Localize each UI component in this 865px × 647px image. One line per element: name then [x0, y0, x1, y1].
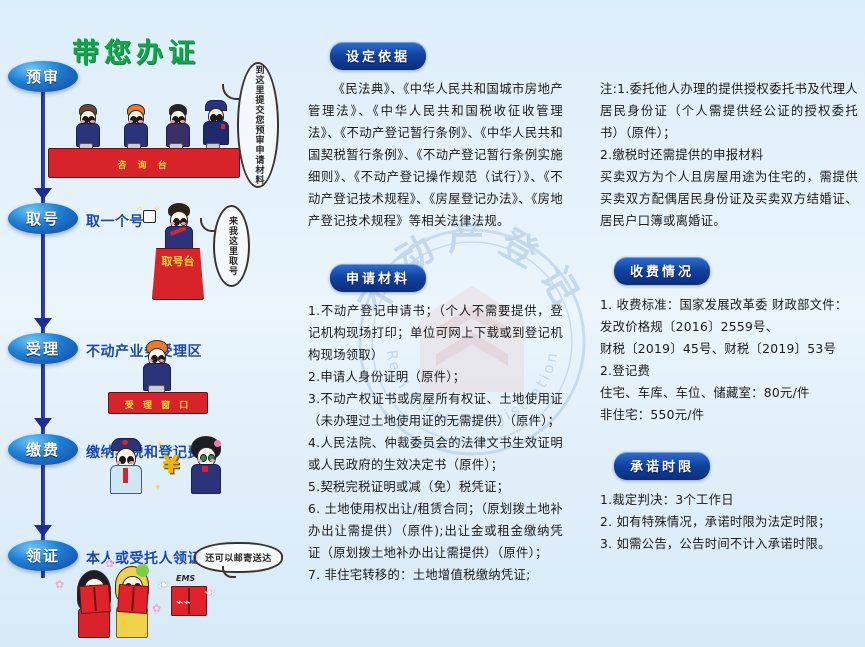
fees-line: 2.登记费: [600, 360, 858, 382]
number-bubble-tail: [200, 218, 216, 232]
payment-officer: [110, 438, 140, 494]
poster-canvas: 不动产登记 Real Estate Registration 带您办证 预审: [0, 0, 865, 647]
preexam-bubble-tail: [222, 84, 240, 100]
fees-line: 住宅、车库、车位、储藏室：80元/件: [600, 382, 858, 404]
clerk-2: [124, 104, 146, 148]
ems-bubble-text: 还可以邮寄送达: [205, 551, 272, 564]
flow-step-preexam-label: 预审: [26, 66, 60, 87]
deadline-line: 1.裁定判决：3个工作日: [600, 489, 858, 511]
flow-step-accept-label: 受理: [26, 338, 60, 359]
ems-envelope: ⌁⌁: [171, 586, 207, 616]
clerk-1: [76, 104, 98, 148]
consult-desk: 咨 询 台: [48, 148, 240, 178]
section-fees-list: 1. 收费标准：国家发展改革委 财政部文件： 发改价格规〔2016〕2559号、…: [600, 294, 858, 426]
accept-desk-label: 受 理 窗 口: [109, 398, 207, 411]
section-fees-heading-wrap: 收费情况: [614, 257, 710, 285]
flow-step-ticket[interactable]: 取号: [8, 203, 78, 234]
consult-desk-label: 咨 询 台: [49, 158, 239, 171]
certificate-book-2: [117, 584, 149, 614]
clerk-3: [166, 104, 188, 148]
ticket-clerk: [165, 203, 191, 255]
fees-line: 发改价格规〔2016〕2559号、: [600, 316, 858, 338]
notes-line: 注:1.委托他人办理的提供授权委托书及代理人居民身份证（个人需提供经公证的授权委…: [600, 78, 858, 144]
flow-step-collect-label: 领证: [26, 545, 60, 566]
materials-item: 4.人民法院、仲裁委员会的法律文书生效证明或人民政府的生效决定书（原件）；: [308, 432, 563, 476]
flow-step-accept[interactable]: 受理: [8, 333, 78, 364]
ems-bubble-tail: [222, 566, 236, 578]
flow-step-collect[interactable]: 领证: [8, 540, 78, 571]
fees-line: 财税〔2019〕45号、财税〔2019〕53号: [600, 338, 858, 360]
section-materials-heading: 申请材料: [330, 264, 426, 292]
preexam-bubble-text: 到这里提交您预审申请材料: [254, 65, 263, 185]
section-basis-heading: 设定依据: [330, 42, 426, 70]
preexam-bubble: 到这里提交您预审申请材料: [237, 62, 279, 188]
section-materials-list: 1.不动产登记申请书；（个人不需要提供，登记机构现场打印；单位可网上下载或到登记…: [308, 300, 563, 586]
officer-1: [203, 100, 227, 148]
flow-step-payment[interactable]: 缴费: [8, 434, 78, 465]
materials-item: 5.契税完税证明或减（免）税凭证；: [308, 476, 563, 498]
materials-item: 1.不动产登记申请书；（个人不需要提供，登记机构现场打印；单位可网上下载或到登记…: [308, 300, 563, 366]
flow-arrow-2: [34, 318, 52, 330]
section-fees-heading: 收费情况: [614, 257, 710, 285]
notes-line: 买卖双方为个人且房屋用途为住宅的，需提供买卖双方配偶居民身份证及买卖双方结婚证、…: [600, 166, 858, 232]
section-notes: 注:1.委托他人办理的提供授权委托书及代理人居民身份证（个人需提供经公证的授权委…: [600, 78, 858, 232]
flow-step-preexam[interactable]: 预审: [8, 61, 78, 92]
materials-item: 3.不动产权证书或房屋所有权证、土地使用证（未办理过土地使用证的无需提供）（原件…: [308, 388, 563, 432]
wing-left-icon: ❧: [156, 577, 171, 595]
accept-desk: 受 理 窗 口: [108, 392, 208, 414]
section-deadline-heading-wrap: 承诺时限: [614, 452, 710, 480]
section-basis-paragraph: 《民法典》、《中华人民共和国城市房地产管理法》、《中华人民共和国税收征收管理法》…: [308, 78, 563, 232]
notes-line: 2.缴税时还需提供的申报材料: [600, 144, 858, 166]
deadline-line: 3. 如需公告，公告时间不计入承诺时限。: [600, 533, 858, 555]
materials-item: 2.申请人身份证明（原件）；: [308, 366, 563, 388]
materials-item: 7. 非住宅转移的：土地增值税缴纳凭证;: [308, 564, 563, 586]
process-flow-column: 带您办证 预审: [0, 0, 300, 647]
number-bubble: 来我这里取号: [213, 205, 250, 287]
ems-bubble: 还可以邮寄送达: [194, 542, 283, 573]
section-materials-heading-wrap: 申请材料: [330, 264, 426, 292]
number-desk: 取号台: [152, 248, 204, 300]
flow-step-ticket-label: 取号: [26, 208, 60, 229]
flow-arrow-3: [34, 418, 52, 430]
fees-line: 非住宅：550元/件: [600, 404, 858, 426]
page-title: 带您办证: [72, 31, 200, 70]
number-bubble-text: 来我这里取号: [227, 216, 236, 276]
deadline-line: 2. 如有特殊情况，承诺时限为法定时限；: [600, 511, 858, 533]
section-basis-heading-wrap: 设定依据: [330, 42, 426, 70]
ems-label: EMS: [176, 574, 195, 583]
materials-item: 6. 土地使用权出让/租赁合同；（原划拨土地补办出让需提供）（原件);出让金或租…: [308, 498, 563, 564]
certificate-book-1: [79, 584, 111, 614]
flow-arrow-1: [34, 188, 52, 200]
section-deadline-heading: 承诺时限: [614, 452, 710, 480]
flow-step-payment-label: 缴费: [26, 439, 60, 460]
fees-line: 1. 收费标准：国家发展改革委 财政部文件：: [600, 294, 858, 316]
section-deadline-list: 1.裁定判决：3个工作日 2. 如有特殊情况，承诺时限为法定时限； 3. 如需公…: [600, 489, 858, 555]
number-desk-label: 取号台: [153, 255, 203, 268]
flow-arrow-4: [34, 525, 52, 537]
yen-symbol: ¥: [162, 450, 179, 479]
payment-citizen: [190, 436, 220, 494]
